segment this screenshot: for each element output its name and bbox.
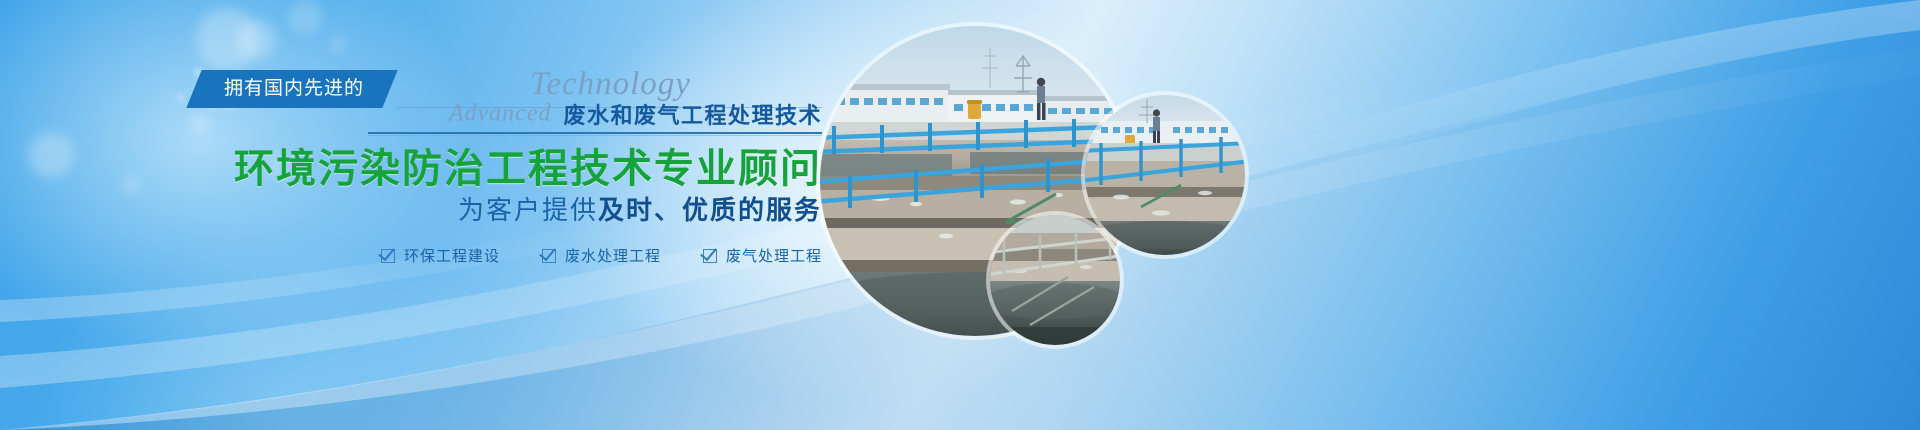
check-icon [703,248,718,263]
feature-item-1[interactable]: 环保工程建设 [381,245,500,266]
subtitle-row: Advanced废水和废气工程处理技术 [0,98,822,132]
check-icon [542,248,557,263]
feature-item-3[interactable]: 废气处理工程 [703,245,822,266]
wastewater-treatment-plant-mid-photo [1085,95,1245,255]
wastewater-treatment-plant-small-photo [990,215,1120,345]
feature-item-label: 废气处理工程 [726,248,822,265]
feature-item-2[interactable]: 废水处理工程 [542,245,661,266]
divider-double [368,132,822,135]
sub-headline: 为客户提供及时、优质的服务 [0,190,822,227]
feature-list: 环保工程建设废水处理工程废气处理工程 [0,245,822,266]
main-headline: 环境污染防治工程技术专业顾问 [0,136,822,194]
sub-headline-prefix: 为客户提供 [458,195,598,225]
feature-item-label: 废水处理工程 [565,248,661,265]
feature-item-label: 环保工程建设 [404,248,500,265]
subtitle-blue-text: 废水和废气工程处理技术 [563,103,822,128]
check-icon [381,248,396,263]
script-advanced-word: Advanced [449,101,552,127]
sub-headline-suffix: 及时、优质的服务 [598,195,822,225]
banner-text-content: 拥有国内先进的 Technology Advanced废水和废气工程处理技术 环… [0,0,850,430]
hero-banner: 拥有国内先进的 Technology Advanced废水和废气工程处理技术 环… [0,0,1920,430]
